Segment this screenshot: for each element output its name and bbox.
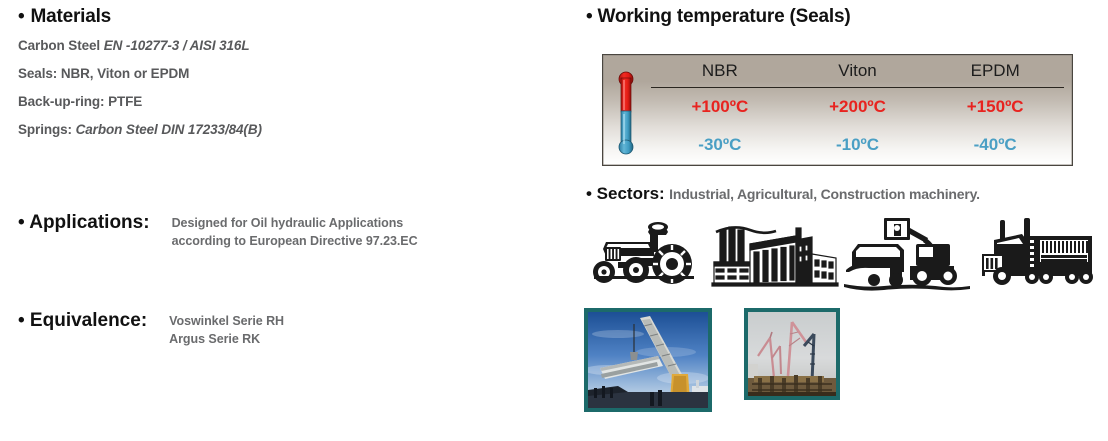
- construction-site-image: [748, 312, 836, 396]
- temperature-min-value: -30ºC: [651, 135, 789, 155]
- thermometer-icon: [617, 71, 635, 155]
- equivalence-body: Voswinkel Serie RH Argus Serie RK: [169, 310, 284, 350]
- temperature-min-row: -30ºC -10ºC -40ºC: [651, 126, 1064, 164]
- sectors-value: Industrial, Agricultural, Construction m…: [669, 186, 980, 202]
- material-label: Springs:: [18, 122, 76, 137]
- material-spec: EN -10277-3 / AISI 316L: [104, 38, 250, 53]
- working-temperature-heading: • Working temperature (Seals): [586, 6, 1102, 28]
- temperature-grid: NBR Viton EPDM +100ºC +200ºC +150ºC -30º…: [651, 55, 1064, 165]
- factory-icon: [710, 214, 840, 294]
- sectors-section: • Sectors: Industrial, Agricultural, Con…: [586, 184, 980, 204]
- crane-lifting-photo: [584, 308, 712, 412]
- applications-line: Designed for Oil hydraulic Applications: [172, 216, 418, 230]
- truck-icon: [976, 214, 1102, 298]
- temperature-max-row: +100ºC +200ºC +150ºC: [651, 88, 1064, 126]
- equivalence-section: • Equivalence: Voswinkel Serie RH Argus …: [18, 310, 284, 350]
- temperature-col-header: NBR: [651, 61, 789, 81]
- equivalence-line: Voswinkel Serie RH: [169, 314, 284, 328]
- construction-site-photo: [744, 308, 840, 400]
- material-row-seals: Seals: NBR, Viton or EPDM: [18, 65, 558, 83]
- material-spec: Carbon Steel DIN 17233/84(B): [76, 122, 262, 137]
- equivalence-line: Argus Serie RK: [169, 332, 284, 346]
- temperature-max-value: +150ºC: [926, 97, 1064, 117]
- machinery-icon-strip: [586, 214, 1102, 302]
- bullet-icon: •: [18, 6, 24, 28]
- temperature-header-row: NBR Viton EPDM: [651, 55, 1064, 88]
- harvester-icon: [844, 214, 972, 298]
- tractor-icon: [588, 214, 708, 294]
- temperature-col-header: Viton: [789, 61, 927, 81]
- temperature-max-value: +100ºC: [651, 97, 789, 117]
- right-column: • Working temperature (Seals): [586, 6, 1102, 28]
- material-label: Seals: NBR, Viton or EPDM: [18, 66, 189, 81]
- slide-canvas: •Materials Carbon Steel EN -10277-3 / AI…: [0, 0, 1108, 441]
- applications-line: according to European Directive 97.23.EC: [172, 234, 418, 248]
- crane-lifting-image: [588, 312, 708, 408]
- applications-label: • Applications:: [18, 212, 150, 234]
- temperature-col-header: EPDM: [926, 61, 1064, 81]
- equivalence-label: • Equivalence:: [18, 310, 147, 332]
- temperature-min-value: -10ºC: [789, 135, 927, 155]
- material-row-carbon-steel: Carbon Steel EN -10277-3 / AISI 316L: [18, 37, 558, 55]
- temperature-max-value: +200ºC: [789, 97, 927, 117]
- applications-section: • Applications: Designed for Oil hydraul…: [18, 212, 418, 252]
- material-label: Back-up-ring: PTFE: [18, 94, 142, 109]
- applications-body: Designed for Oil hydraulic Applications …: [172, 212, 418, 252]
- left-column: •Materials Carbon Steel EN -10277-3 / AI…: [18, 6, 558, 149]
- materials-heading-text: Materials: [30, 6, 111, 27]
- material-row-springs: Springs: Carbon Steel DIN 17233/84(B): [18, 121, 558, 139]
- temperature-min-value: -40ºC: [926, 135, 1064, 155]
- working-temperature-table: NBR Viton EPDM +100ºC +200ºC +150ºC -30º…: [602, 54, 1073, 166]
- material-label: Carbon Steel: [18, 38, 104, 53]
- material-row-backup-ring: Back-up-ring: PTFE: [18, 93, 558, 111]
- materials-heading: •Materials: [18, 6, 558, 28]
- sectors-label: • Sectors:: [586, 184, 665, 203]
